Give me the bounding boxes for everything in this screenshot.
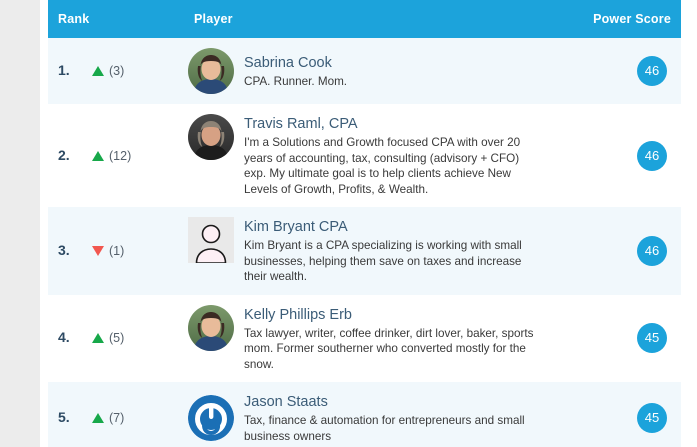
player-text: Kelly Phillips ErbTax lawyer, writer, co…: [244, 305, 544, 373]
avatar-photo[interactable]: [188, 305, 234, 351]
player-cell: Jason StaatsTax, finance & automation fo…: [188, 382, 564, 447]
power-score-cell: 45: [564, 382, 681, 447]
player-name[interactable]: Kim Bryant CPA: [244, 218, 544, 236]
power-score-badge: 46: [637, 56, 667, 86]
power-score-cell: 46: [564, 104, 681, 207]
table-row[interactable]: 3.(1)Kim Bryant CPAKim Bryant is a CPA s…: [48, 207, 681, 295]
power-score-badge: 46: [637, 141, 667, 171]
triangle-up-icon: [92, 413, 104, 423]
rank-cell: 2.(12): [48, 104, 188, 207]
triangle-down-icon: [92, 246, 104, 256]
rank-number: 1.: [58, 62, 92, 78]
player-text: Jason StaatsTax, finance & automation fo…: [244, 392, 544, 444]
rank-movement: (1): [92, 242, 124, 260]
table-row[interactable]: 5.(7)Jason StaatsTax, finance & automati…: [48, 382, 681, 447]
rank-change-count: (5): [109, 331, 124, 345]
rank-movement: (12): [92, 147, 131, 165]
table-header-row: Rank Player Power Score: [48, 0, 681, 38]
player-cell: Kim Bryant CPAKim Bryant is a CPA specia…: [188, 207, 564, 295]
power-score-cell: 45: [564, 295, 681, 383]
triangle-up-icon: [92, 66, 104, 76]
leaderboard-table-wrapper: Rank Player Power Score 1.(3)Sabrina Coo…: [48, 0, 655, 447]
column-header-rank[interactable]: Rank: [48, 0, 188, 38]
rank-change-count: (12): [109, 149, 131, 163]
column-header-player[interactable]: Player: [188, 0, 564, 38]
rank-number: 3.: [58, 242, 92, 258]
player-text: Sabrina CookCPA. Runner. Mom.: [244, 53, 544, 90]
power-score-badge: 46: [637, 236, 667, 266]
table-row[interactable]: 1.(3)Sabrina CookCPA. Runner. Mom.46: [48, 38, 681, 104]
table-row[interactable]: 2.(12)Travis Raml, CPAI'm a Solutions an…: [48, 104, 681, 207]
triangle-up-icon: [92, 151, 104, 161]
player-cell: Kelly Phillips ErbTax lawyer, writer, co…: [188, 295, 564, 383]
table-body: 1.(3)Sabrina CookCPA. Runner. Mom.462.(1…: [48, 38, 681, 447]
player-info: Travis Raml, CPAI'm a Solutions and Grow…: [188, 114, 564, 197]
player-info: Sabrina CookCPA. Runner. Mom.: [188, 48, 564, 94]
rank-movement: (7): [92, 409, 124, 427]
player-name[interactable]: Kelly Phillips Erb: [244, 306, 544, 324]
rank-number: 5.: [58, 409, 92, 425]
player-name[interactable]: Sabrina Cook: [244, 54, 544, 72]
leaderboard-table: Rank Player Power Score 1.(3)Sabrina Coo…: [48, 0, 681, 447]
page-surface: Rank Player Power Score 1.(3)Sabrina Coo…: [40, 0, 697, 447]
rank-cell: 5.(7): [48, 382, 188, 447]
rank-change-count: (7): [109, 411, 124, 425]
avatar-photo[interactable]: [188, 114, 234, 160]
player-info: Jason StaatsTax, finance & automation fo…: [188, 392, 564, 444]
avatar-photo[interactable]: [188, 48, 234, 94]
player-text: Kim Bryant CPAKim Bryant is a CPA specia…: [244, 217, 544, 285]
player-info: Kelly Phillips ErbTax lawyer, writer, co…: [188, 305, 564, 373]
power-score-badge: 45: [637, 403, 667, 433]
player-bio: Tax, finance & automation for entreprene…: [244, 413, 544, 444]
player-info: Kim Bryant CPAKim Bryant is a CPA specia…: [188, 217, 564, 285]
triangle-up-icon: [92, 333, 104, 343]
rank-cell: 4.(5): [48, 295, 188, 383]
player-bio: Tax lawyer, writer, coffee drinker, dirt…: [244, 326, 544, 373]
rank-cell: 1.(3): [48, 38, 188, 104]
rank-cell: 3.(1): [48, 207, 188, 295]
avatar-logo[interactable]: [188, 395, 234, 441]
player-name[interactable]: Jason Staats: [244, 393, 544, 411]
rank-movement: (3): [92, 62, 124, 80]
column-header-power-score[interactable]: Power Score: [564, 0, 681, 38]
power-score-cell: 46: [564, 207, 681, 295]
rank-change-count: (3): [109, 64, 124, 78]
player-bio: Kim Bryant is a CPA specializing is work…: [244, 238, 544, 285]
power-score-cell: 46: [564, 38, 681, 104]
rank-movement: (5): [92, 329, 124, 347]
rank-number: 2.: [58, 147, 92, 163]
player-cell: Travis Raml, CPAI'm a Solutions and Grow…: [188, 104, 564, 207]
player-text: Travis Raml, CPAI'm a Solutions and Grow…: [244, 114, 544, 197]
player-bio: I'm a Solutions and Growth focused CPA w…: [244, 135, 544, 197]
table-row[interactable]: 4.(5)Kelly Phillips ErbTax lawyer, write…: [48, 295, 681, 383]
rank-change-count: (1): [109, 244, 124, 258]
power-score-badge: 45: [637, 323, 667, 353]
player-cell: Sabrina CookCPA. Runner. Mom.: [188, 38, 564, 104]
player-name[interactable]: Travis Raml, CPA: [244, 115, 544, 133]
avatar-placeholder-icon[interactable]: [188, 217, 234, 263]
table-header: Rank Player Power Score: [48, 0, 681, 38]
rank-number: 4.: [58, 329, 92, 345]
player-bio: CPA. Runner. Mom.: [244, 74, 544, 90]
